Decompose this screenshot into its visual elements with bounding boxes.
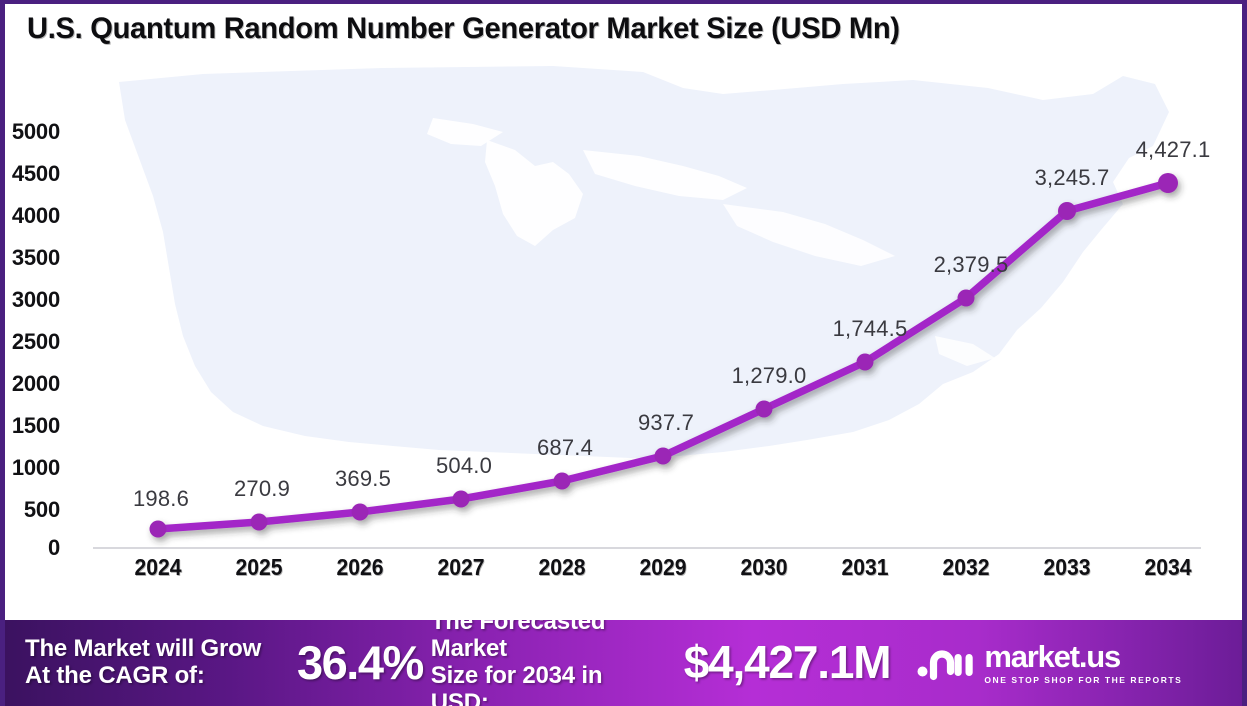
x-axis-label: 2024: [134, 554, 181, 581]
data-point-marker: [756, 401, 773, 418]
cagr-label-line2: At the CAGR of:: [25, 663, 293, 690]
data-point-label: 2,379.5: [934, 252, 1009, 278]
infographic-chart-card: U.S. Quantum Random Number Generator Mar…: [0, 0, 1247, 706]
x-axis-label: 2034: [1144, 554, 1191, 581]
data-point-label: 687.4: [537, 435, 593, 461]
data-point-marker: [655, 448, 672, 465]
cagr-label-line1: The Market will Grow: [25, 636, 293, 663]
data-point-marker: [857, 354, 874, 371]
data-point-label: 198.6: [133, 486, 189, 512]
market-us-logo[interactable]: market.us ONE STOP SHOP FOR THE REPORTS: [916, 641, 1182, 685]
data-point-label: 504.0: [436, 453, 492, 479]
data-point-marker: [352, 504, 369, 521]
data-point-marker: [150, 521, 167, 538]
market-us-logomark-icon: [916, 643, 974, 683]
cagr-value: 36.4%: [297, 637, 423, 690]
page-title: U.S. Quantum Random Number Generator Mar…: [27, 12, 900, 46]
forecast-value: $4,427.1M: [684, 637, 891, 689]
data-point-label: 3,245.7: [1035, 165, 1110, 191]
data-point-label: 270.9: [234, 476, 290, 502]
x-axis-label: 2026: [336, 554, 383, 581]
data-point-marker: [958, 290, 975, 307]
data-point-label: 4,427.1: [1136, 137, 1211, 163]
data-point-label: 369.5: [335, 466, 391, 492]
forecast-label-line1: The Forecasted Market: [431, 620, 666, 663]
line-series-plot: [5, 52, 1242, 572]
summary-footer-bar: The Market will Grow At the CAGR of: 36.…: [5, 620, 1247, 706]
x-axis-label: 2033: [1043, 554, 1090, 581]
data-point-marker: [453, 491, 470, 508]
logo-tagline: ONE STOP SHOP FOR THE REPORTS: [984, 675, 1182, 685]
x-axis-label: 2032: [942, 554, 989, 581]
data-point-marker: [554, 473, 571, 490]
data-point-marker: [251, 514, 268, 531]
data-point-label: 937.7: [638, 410, 694, 436]
logo-wordmark: market.us: [984, 641, 1182, 672]
logo-text-block: market.us ONE STOP SHOP FOR THE REPORTS: [984, 641, 1182, 685]
cagr-label: The Market will Grow At the CAGR of:: [25, 636, 293, 690]
forecast-label-line2: Size for 2034 in USD:: [431, 663, 666, 706]
data-point-marker: [1058, 202, 1076, 220]
x-axis-label: 2027: [437, 554, 484, 581]
chart-canvas: 5000 4500 4000 3500 3000 2500 2000 1500 …: [5, 52, 1242, 612]
x-axis-label: 2031: [841, 554, 888, 581]
x-axis-label: 2030: [740, 554, 787, 581]
x-axis-label: 2025: [235, 554, 282, 581]
data-point-label: 1,279.0: [732, 363, 807, 389]
series-line: [158, 183, 1168, 529]
forecast-label: The Forecasted Market Size for 2034 in U…: [431, 620, 666, 706]
x-axis-label: 2029: [639, 554, 686, 581]
x-axis-label: 2028: [538, 554, 585, 581]
data-point-label: 1,744.5: [833, 316, 908, 342]
data-point-marker: [1158, 173, 1178, 193]
